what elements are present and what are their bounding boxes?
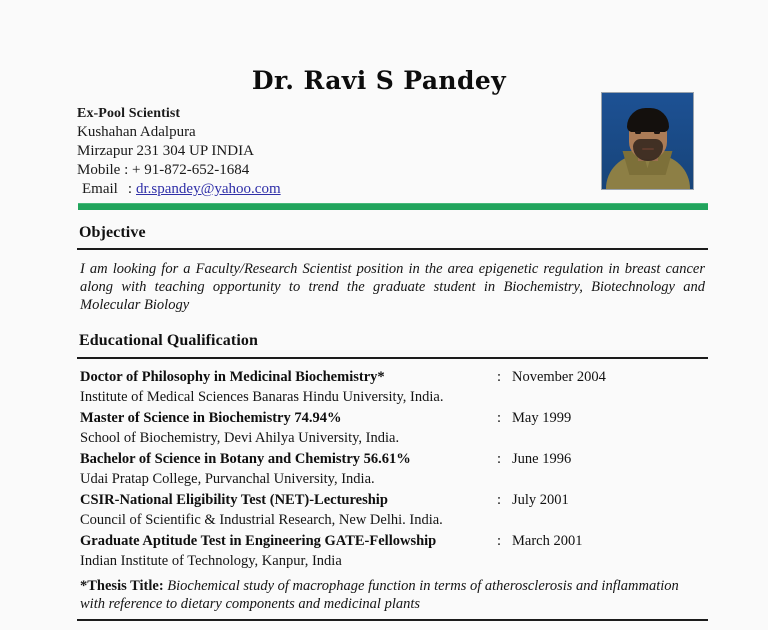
objective-text: I am looking for a Faculty/Research Scie… (80, 260, 705, 314)
thesis-label: *Thesis Title: (80, 578, 164, 594)
education-institute: School of Biochemistry, Devi Ahilya Univ… (80, 429, 708, 448)
thesis-block: *Thesis Title: Biochemical study of macr… (80, 577, 705, 613)
education-institute: Indian Institute of Technology, Kanpur, … (80, 552, 708, 571)
photo-hair (627, 108, 669, 132)
thesis-text: Biochemical study of macrophage function… (80, 578, 679, 612)
green-divider-bar (78, 203, 708, 210)
education-institute: Institute of Medical Sciences Banaras Hi… (80, 388, 708, 407)
education-degree-row: Doctor of Philosophy in Medicinal Bioche… (80, 369, 708, 388)
email-label: Email (82, 180, 118, 199)
contact-address-line2: Mirzapur 231 304 UP INDIA (77, 142, 407, 161)
education-entry: CSIR-National Eligibility Test (NET)-Lec… (80, 492, 708, 530)
education-date: May 1999 (512, 410, 571, 427)
email-link[interactable]: dr.spandey@yahoo.com (136, 181, 281, 197)
portrait-photo (602, 93, 693, 189)
contact-address-line1: Kushahan Adalpura (77, 123, 407, 142)
education-degree-row: Graduate Aptitude Test in Engineering GA… (80, 533, 708, 552)
education-list: Doctor of Philosophy in Medicinal Bioche… (80, 369, 708, 574)
education-degree: Master of Science in Biochemistry 74.94% (80, 410, 342, 427)
photo-eye-right (654, 131, 660, 134)
education-degree-row: CSIR-National Eligibility Test (NET)-Lec… (80, 492, 708, 511)
education-colon: : (497, 492, 501, 509)
education-degree: CSIR-National Eligibility Test (NET)-Lec… (80, 492, 388, 509)
section-rule-objective (77, 248, 708, 250)
avatar (601, 92, 694, 190)
section-rule-education (77, 357, 708, 359)
education-entry: Doctor of Philosophy in Medicinal Bioche… (80, 369, 708, 407)
photo-eye-left (635, 131, 641, 134)
contact-block: Ex-Pool Scientist Kushahan Adalpura Mirz… (77, 104, 407, 199)
education-date: March 2001 (512, 533, 582, 550)
bottom-rule (77, 619, 708, 621)
contact-mobile: Mobile : + 91-872-652-1684 (77, 161, 407, 180)
education-colon: : (497, 369, 501, 386)
education-date: November 2004 (512, 369, 606, 386)
education-degree-row: Bachelor of Science in Botany and Chemis… (80, 451, 708, 470)
education-colon: : (497, 533, 501, 550)
education-colon: : (497, 451, 501, 468)
page-title: Dr. Ravi S Pandey (0, 66, 768, 95)
section-heading-objective: Objective (79, 224, 146, 242)
education-entry: Master of Science in Biochemistry 74.94%… (80, 410, 708, 448)
education-colon: : (497, 410, 501, 427)
education-date: June 1996 (512, 451, 571, 468)
education-degree: Graduate Aptitude Test in Engineering GA… (80, 533, 436, 550)
education-entry: Bachelor of Science in Botany and Chemis… (80, 451, 708, 489)
education-degree: Doctor of Philosophy in Medicinal Bioche… (80, 369, 385, 386)
contact-role: Ex-Pool Scientist (77, 104, 407, 123)
email-colon: : (118, 180, 136, 199)
contact-email-row: Email:dr.spandey@yahoo.com (77, 180, 407, 199)
section-heading-education: Educational Qualification (79, 332, 258, 350)
education-institute: Udai Pratap College, Purvanchal Universi… (80, 470, 708, 489)
photo-mouth (642, 148, 654, 150)
education-entry: Graduate Aptitude Test in Engineering GA… (80, 533, 708, 571)
resume-page: Dr. Ravi S Pandey Ex-Pool Scientist Kush… (0, 0, 768, 630)
education-degree: Bachelor of Science in Botany and Chemis… (80, 451, 411, 468)
education-degree-row: Master of Science in Biochemistry 74.94%… (80, 410, 708, 429)
education-date: July 2001 (512, 492, 569, 509)
education-institute: Council of Scientific & Industrial Resea… (80, 511, 708, 530)
